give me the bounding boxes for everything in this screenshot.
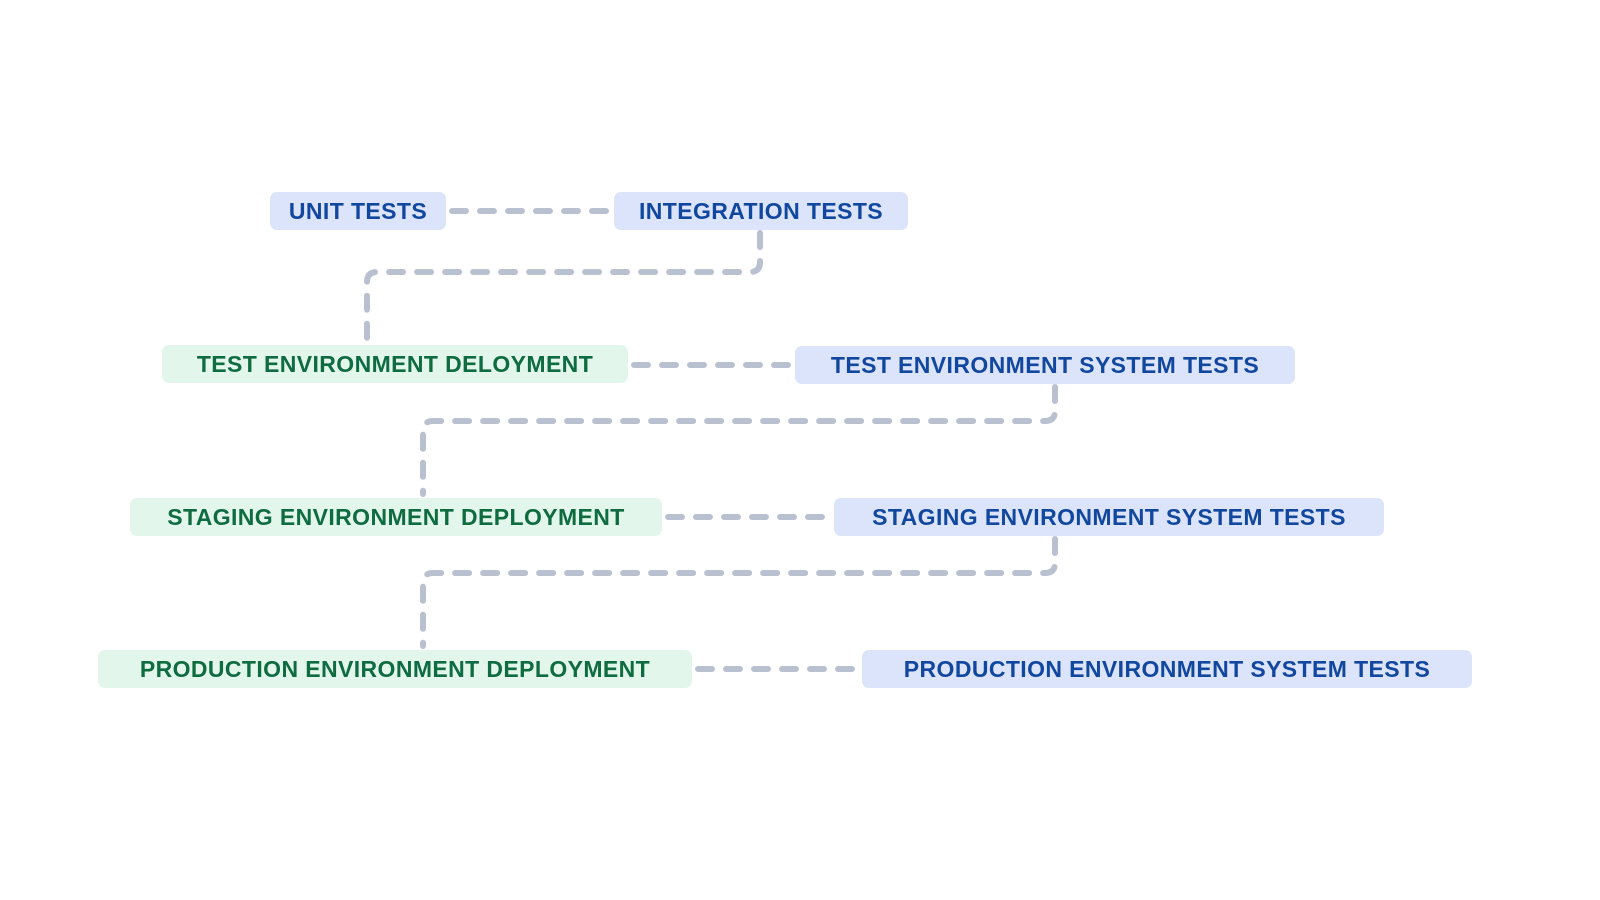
edge-layer — [0, 0, 1600, 900]
edge-test-env-system-tests-to-staging-deployment — [423, 387, 1055, 494]
node-label: TEST ENVIRONMENT DELOYMENT — [197, 345, 593, 383]
node-label: STAGING ENVIRONMENT SYSTEM TESTS — [872, 498, 1346, 536]
diagram-canvas: UNIT TESTSINTEGRATION TESTSTEST ENVIRONM… — [0, 0, 1600, 900]
node-integration-tests[interactable]: INTEGRATION TESTS — [614, 192, 908, 230]
node-label: PRODUCTION ENVIRONMENT SYSTEM TESTS — [904, 650, 1430, 688]
node-production-env-system-tests[interactable]: PRODUCTION ENVIRONMENT SYSTEM TESTS — [862, 650, 1472, 688]
node-label: PRODUCTION ENVIRONMENT DEPLOYMENT — [140, 650, 650, 688]
edge-integration-to-test-env-deployment — [367, 233, 760, 341]
node-test-env-deployment[interactable]: TEST ENVIRONMENT DELOYMENT — [162, 345, 628, 383]
node-test-env-system-tests[interactable]: TEST ENVIRONMENT SYSTEM TESTS — [795, 346, 1295, 384]
node-production-env-deployment[interactable]: PRODUCTION ENVIRONMENT DEPLOYMENT — [98, 650, 692, 688]
node-label: UNIT TESTS — [289, 192, 427, 230]
node-label: INTEGRATION TESTS — [639, 192, 883, 230]
node-label: STAGING ENVIRONMENT DEPLOYMENT — [167, 498, 625, 536]
node-staging-env-deployment[interactable]: STAGING ENVIRONMENT DEPLOYMENT — [130, 498, 662, 536]
node-staging-env-system-tests[interactable]: STAGING ENVIRONMENT SYSTEM TESTS — [834, 498, 1384, 536]
edge-staging-system-tests-to-production-deployment — [423, 539, 1055, 646]
node-unit-tests[interactable]: UNIT TESTS — [270, 192, 446, 230]
node-label: TEST ENVIRONMENT SYSTEM TESTS — [831, 346, 1259, 384]
